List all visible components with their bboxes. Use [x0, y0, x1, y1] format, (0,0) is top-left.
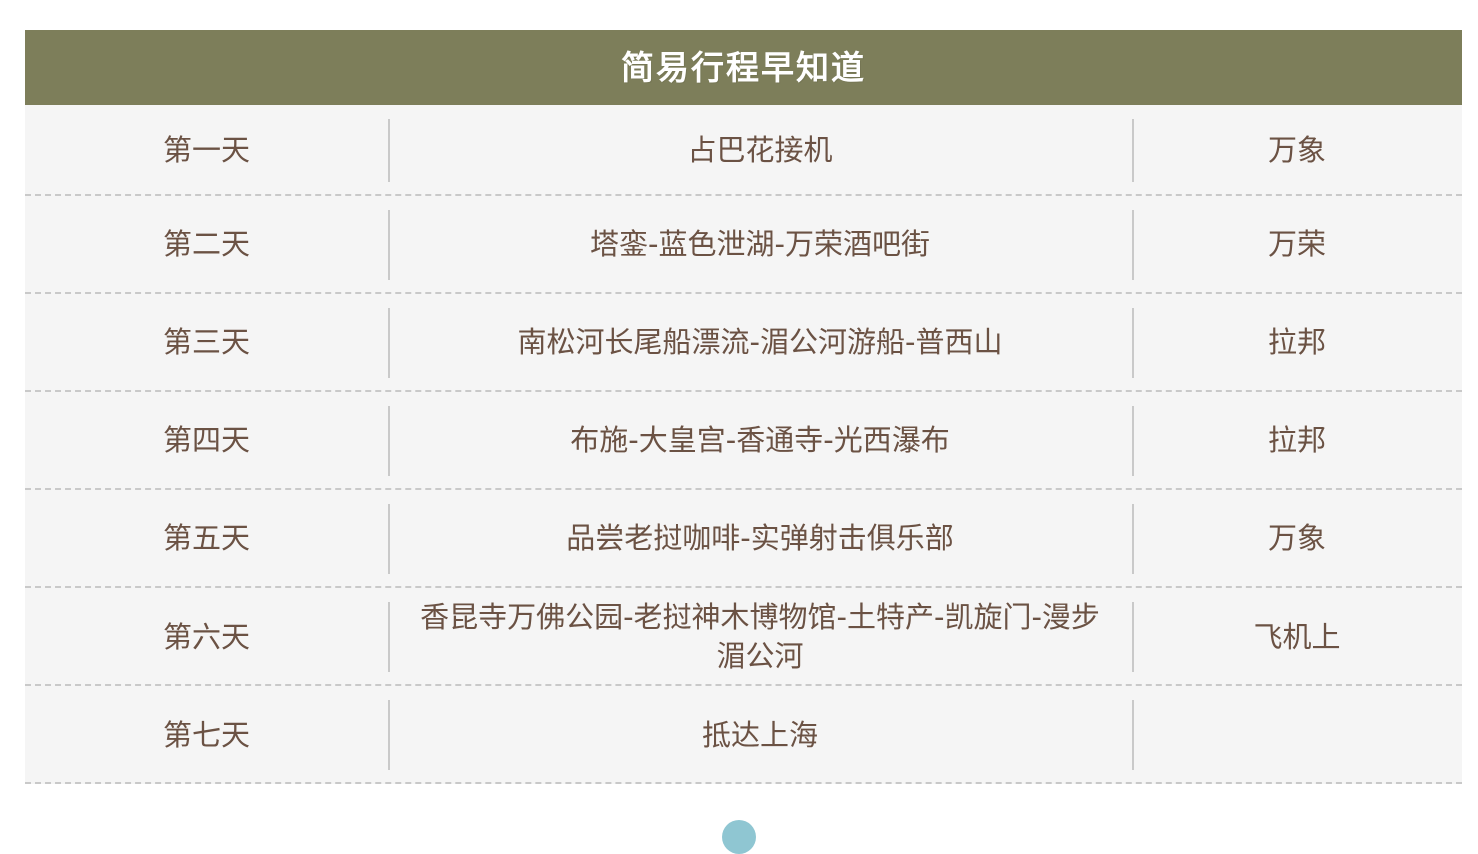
row-day-label: 第七天 — [163, 716, 250, 755]
row-city-label: 飞机上 — [1253, 618, 1340, 657]
row-plan-cell: 抵达上海 — [388, 686, 1132, 784]
row-day-label: 第三天 — [163, 323, 250, 362]
row-day-cell: 第六天 — [25, 588, 388, 686]
row-plan-cell: 塔銮-蓝色泄湖-万荣酒吧街 — [388, 196, 1132, 294]
row-day-label: 第五天 — [163, 519, 250, 558]
row-day-cell: 第三天 — [25, 294, 388, 392]
row-plan-label: 布施-大皇宫-香通寺-光西瀑布 — [570, 421, 949, 460]
row-day-label: 第四天 — [163, 421, 250, 460]
row-day-label: 第二天 — [163, 225, 250, 264]
row-plan-label: 塔銮-蓝色泄湖-万荣酒吧街 — [590, 225, 930, 264]
row-plan-cell: 品尝老挝咖啡-实弹射击俱乐部 — [388, 490, 1132, 588]
table-row: 第五天 品尝老挝咖啡-实弹射击俱乐部 万象 — [25, 490, 1462, 588]
row-day-label: 第一天 — [163, 131, 250, 170]
row-plan-label: 抵达上海 — [702, 716, 818, 755]
table-row: 第一天 占巴花接机 万象 — [25, 105, 1462, 196]
page-title: 简易行程早知道 — [621, 51, 866, 84]
table-row: 第三天 南松河长尾船漂流-湄公河游船-普西山 拉邦 — [25, 294, 1462, 392]
row-city-cell: 拉邦 — [1132, 392, 1462, 490]
row-city-cell: 拉邦 — [1132, 294, 1462, 392]
table-row: 第四天 布施-大皇宫-香通寺-光西瀑布 拉邦 — [25, 392, 1462, 490]
row-city-label: 万象 — [1268, 131, 1326, 170]
row-day-cell: 第四天 — [25, 392, 388, 490]
row-city-cell: 万荣 — [1132, 196, 1462, 294]
decorative-dot-icon — [722, 820, 756, 854]
row-day-cell: 第二天 — [25, 196, 388, 294]
row-plan-cell: 布施-大皇宫-香通寺-光西瀑布 — [388, 392, 1132, 490]
itinerary-table: 第一天 占巴花接机 万象 第二天 塔銮-蓝色泄湖-万荣酒吧街 万荣 — [25, 105, 1462, 784]
card-header: 简易行程早知道 — [25, 30, 1462, 105]
row-city-cell: 万象 — [1132, 105, 1462, 196]
page-root: 简易行程早知道 第一天 占巴花接机 万象 第二天 塔銮-蓝色泄湖-万荣 — [0, 0, 1478, 840]
row-plan-label: 品尝老挝咖啡-实弹射击俱乐部 — [566, 519, 953, 558]
row-plan-label: 南松河长尾船漂流-湄公河游船-普西山 — [518, 323, 1003, 362]
row-plan-cell: 占巴花接机 — [388, 105, 1132, 196]
row-day-cell: 第五天 — [25, 490, 388, 588]
row-plan-label: 香昆寺万佛公园-老挝神木博物馆-土特产-凯旋门-漫步湄公河 — [406, 598, 1114, 676]
row-plan-cell: 香昆寺万佛公园-老挝神木博物馆-土特产-凯旋门-漫步湄公河 — [388, 588, 1132, 686]
row-plan-cell: 南松河长尾船漂流-湄公河游船-普西山 — [388, 294, 1132, 392]
row-city-label: 拉邦 — [1268, 421, 1326, 460]
table-row: 第七天 抵达上海 — [25, 686, 1462, 784]
row-city-cell — [1132, 686, 1462, 784]
row-day-label: 第六天 — [163, 618, 250, 657]
row-city-cell: 万象 — [1132, 490, 1462, 588]
row-plan-label: 占巴花接机 — [687, 131, 832, 170]
itinerary-card: 简易行程早知道 第一天 占巴花接机 万象 第二天 塔銮-蓝色泄湖-万荣 — [25, 30, 1462, 784]
row-city-label: 万荣 — [1268, 225, 1326, 264]
table-row: 第六天 香昆寺万佛公园-老挝神木博物馆-土特产-凯旋门-漫步湄公河 飞机上 — [25, 588, 1462, 686]
table-row: 第二天 塔銮-蓝色泄湖-万荣酒吧街 万荣 — [25, 196, 1462, 294]
row-city-label: 万象 — [1268, 519, 1326, 558]
row-day-cell: 第一天 — [25, 105, 388, 196]
row-day-cell: 第七天 — [25, 686, 388, 784]
row-city-cell: 飞机上 — [1132, 588, 1462, 686]
row-city-label: 拉邦 — [1268, 323, 1326, 362]
